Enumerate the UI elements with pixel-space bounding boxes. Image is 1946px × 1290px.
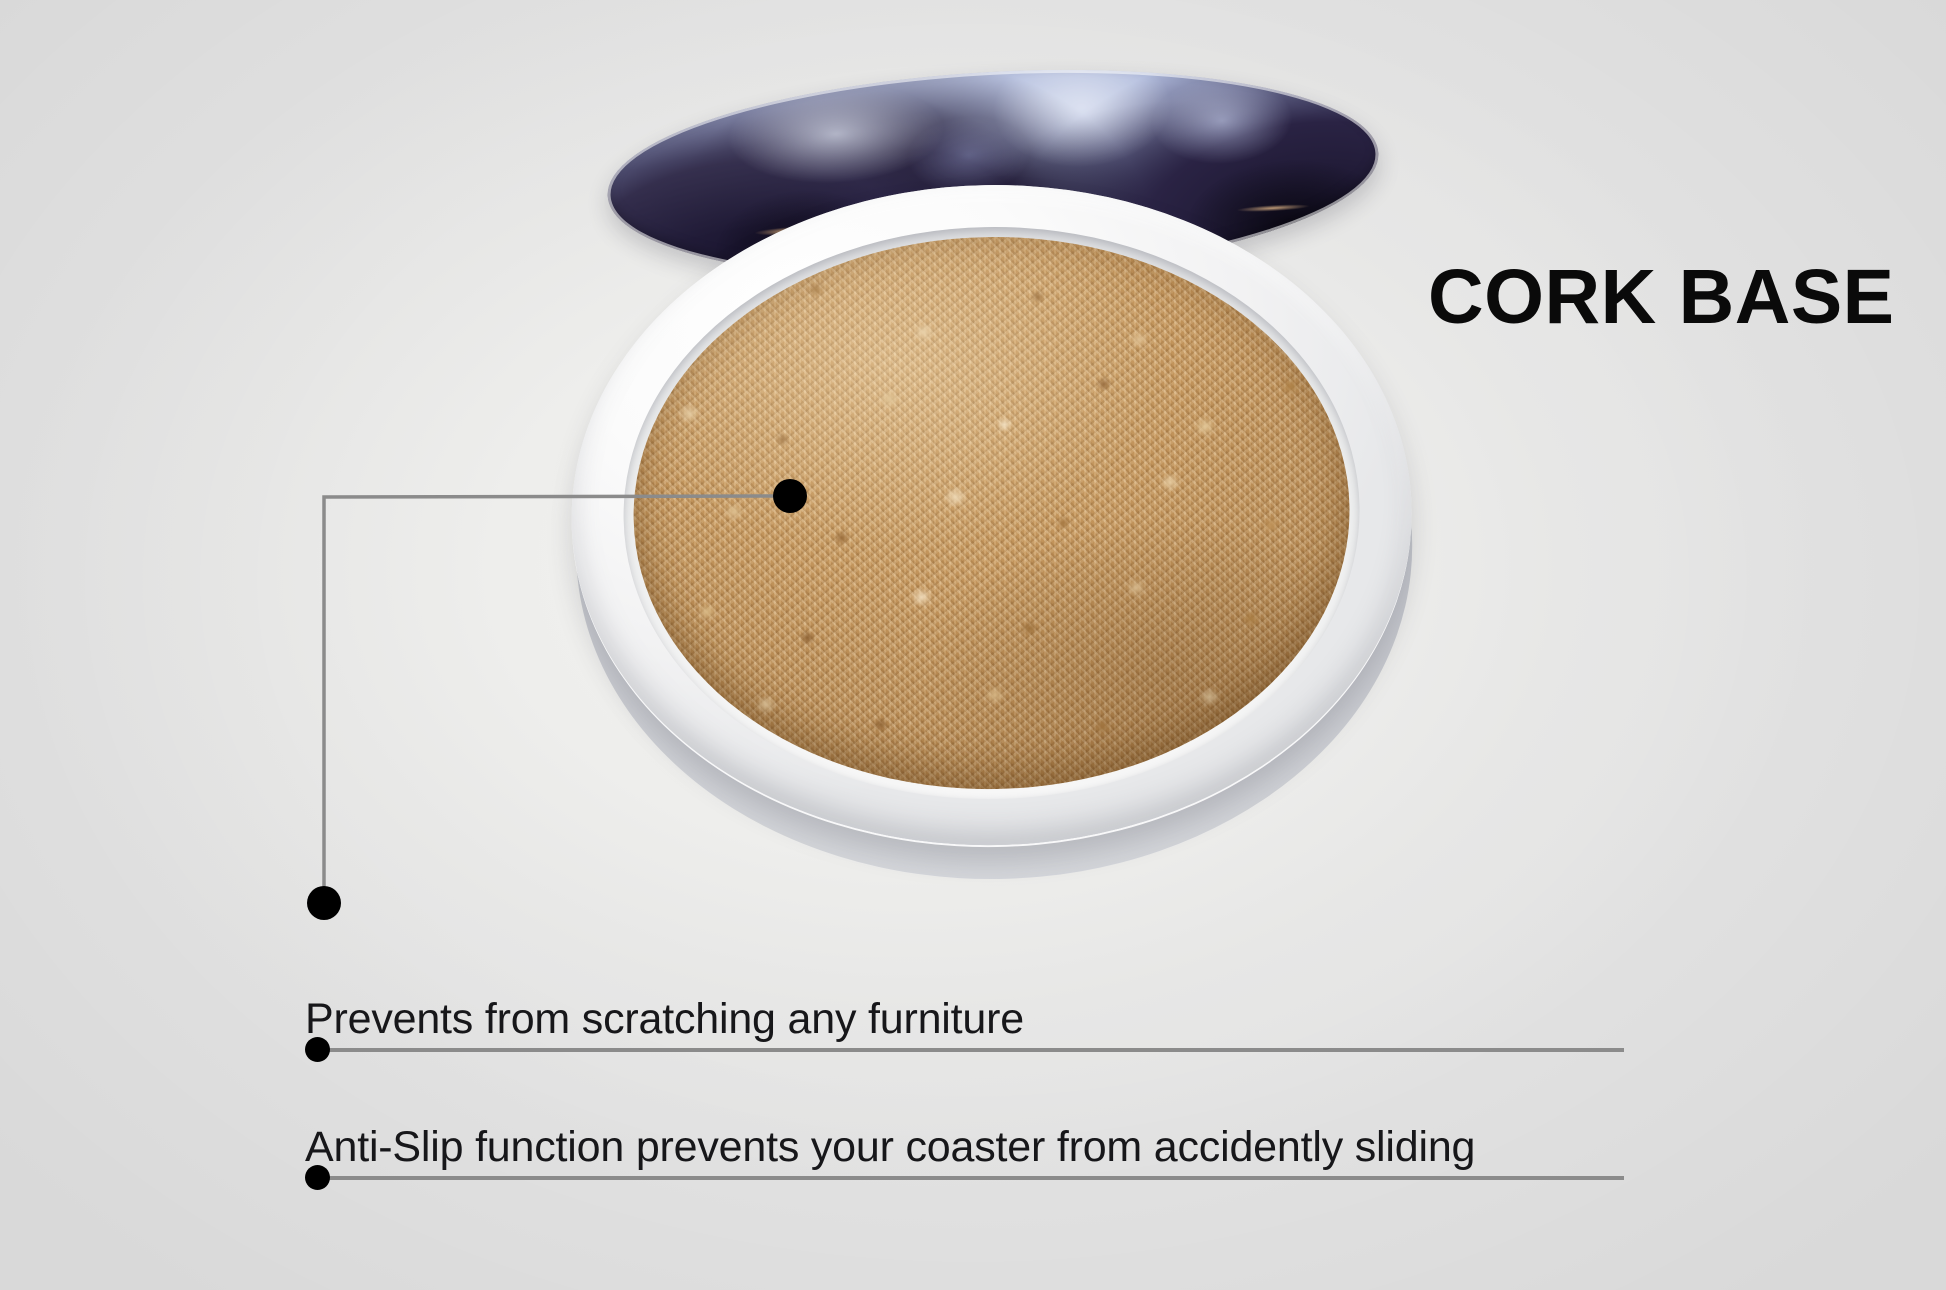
feature-text: Anti-Slip function prevents your coaster… bbox=[305, 1123, 1475, 1172]
cork-lighting-overlay bbox=[629, 231, 1355, 795]
feature-rule bbox=[324, 1048, 1624, 1052]
infographic-canvas: CORK BASE Prevents from scratching any f… bbox=[0, 0, 1946, 1290]
feature-bullet-dot bbox=[305, 1037, 330, 1062]
feature-rule bbox=[324, 1176, 1624, 1180]
feature-bullet-dot bbox=[305, 1165, 330, 1190]
coaster-inner-rim bbox=[619, 221, 1365, 806]
feature-text: Prevents from scratching any furniture bbox=[305, 995, 1024, 1044]
front-coaster-cork-side-up bbox=[566, 178, 1423, 898]
cork-base-surface bbox=[629, 231, 1355, 795]
page-title: CORK BASE bbox=[1428, 253, 1895, 342]
